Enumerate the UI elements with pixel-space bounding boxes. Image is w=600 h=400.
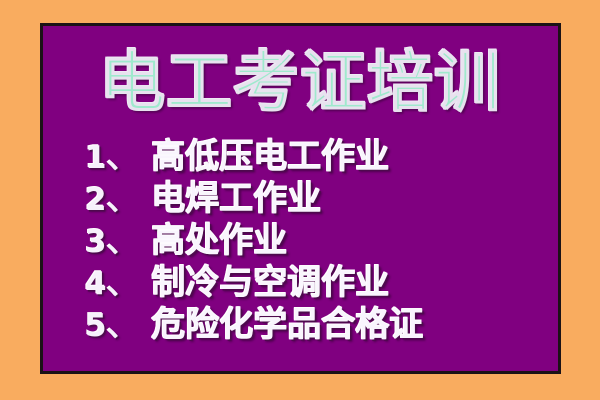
list-item-number: 5 [85,305,107,347]
list-item-number: 4 [85,263,107,305]
list-item: 2 、 电焊工作业 [85,178,550,220]
list-item-label: 高低压电工作业 [152,136,390,178]
poster-title-container: 电工考证培训 [43,42,558,124]
page-title: 电工考证培训 [100,50,502,116]
list-item-number: 1 [85,137,107,179]
list-item-separator: 、 [107,179,138,221]
list-item-separator: 、 [107,305,138,347]
list-item-label: 制冷与空调作业 [152,262,390,304]
poster-canvas: 电工考证培训 1 、 高低压电工作业 2 、 电焊工作业 3 、 高处作业 4 … [0,0,600,400]
list-item-separator: 、 [107,263,138,305]
list-item-label: 电焊工作业 [152,178,322,220]
list-item-number: 3 [85,221,107,263]
list-item-label: 危险化学品合格证 [152,304,424,346]
list-item: 5 、 危险化学品合格证 [85,304,550,346]
list-item-separator: 、 [107,137,138,179]
course-list: 1 、 高低压电工作业 2 、 电焊工作业 3 、 高处作业 4 、 制冷与空调… [85,136,550,346]
list-item: 3 、 高处作业 [85,220,550,262]
list-item: 4 、 制冷与空调作业 [85,262,550,304]
list-item-label: 高处作业 [152,220,288,262]
list-item: 1 、 高低压电工作业 [85,136,550,178]
poster-panel: 电工考证培训 1 、 高低压电工作业 2 、 电焊工作业 3 、 高处作业 4 … [40,23,561,374]
list-item-number: 2 [85,179,107,221]
list-item-separator: 、 [107,221,138,263]
